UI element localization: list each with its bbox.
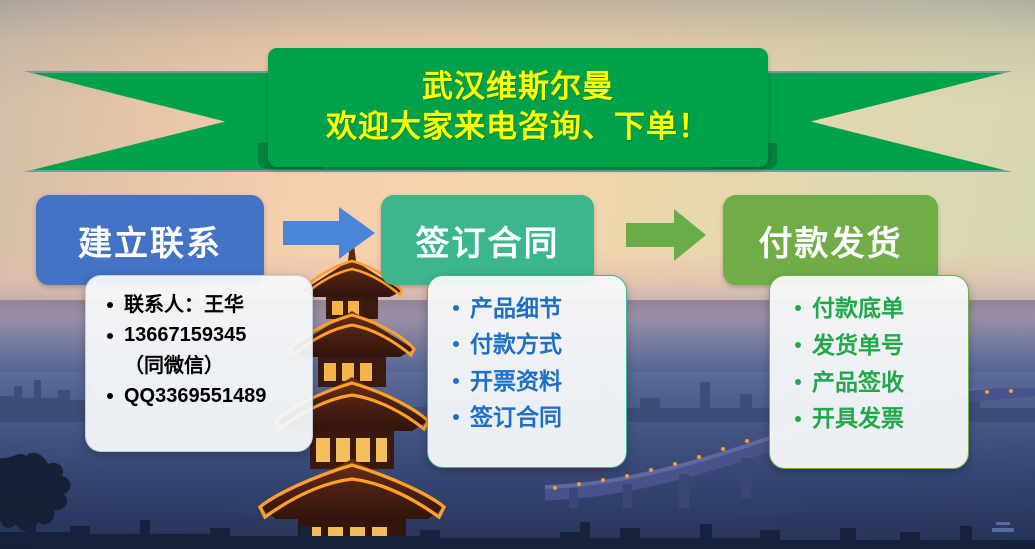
banner-title-line2: 欢迎大家来电咨询、下单！ — [326, 109, 710, 146]
step-card-header-sign-contract[interactable]: 签订合同 — [381, 195, 594, 285]
list-item: 产品细节 — [448, 290, 610, 326]
list-item: 开票资料 — [448, 363, 610, 399]
step-card-body-payment-shipping: 付款底单 发货单号 产品签收 开具发票 — [769, 275, 969, 469]
list-item: QQ3369551489 — [102, 381, 296, 411]
step-1-detail-list: 联系人：王华 13667159345 （同微信） QQ3369551489 — [102, 290, 296, 412]
list-item: 签订合同 — [448, 399, 610, 435]
list-item: 开具发票 — [790, 400, 952, 437]
step-2-detail-list: 产品细节 付款方式 开票资料 签订合同 — [444, 290, 610, 435]
step-card-body-sign-contract: 产品细节 付款方式 开票资料 签订合同 — [427, 275, 627, 468]
step-card-header-payment-shipping[interactable]: 付款发货 — [723, 195, 938, 285]
near-shore-skyline — [0, 480, 1035, 549]
list-item: 13667159345 — [102, 320, 296, 350]
list-item: 产品签收 — [790, 364, 952, 401]
poster-canvas: 武汉维斯尔曼 欢迎大家来电咨询、下单！ 建立联系 联系人：王华 13667159… — [0, 0, 1035, 549]
list-item: 付款底单 — [790, 290, 952, 327]
list-item: 联系人：王华 — [102, 290, 296, 320]
banner-title-box: 武汉维斯尔曼 欢迎大家来电咨询、下单！ — [268, 48, 768, 167]
list-item: （同微信） — [102, 351, 296, 381]
list-item: 付款方式 — [448, 326, 610, 362]
step-title-2: 签订合同 — [416, 216, 560, 265]
step-title-1: 建立联系 — [78, 216, 222, 265]
step-3-detail-list: 付款底单 发货单号 产品签收 开具发票 — [786, 290, 952, 437]
arrow-step2-to-step3-icon — [626, 209, 706, 261]
list-item: 发货单号 — [790, 327, 952, 364]
step-card-header-establish-contact[interactable]: 建立联系 — [36, 195, 264, 285]
step-title-3: 付款发货 — [759, 216, 903, 265]
arrow-step1-to-step2-icon — [283, 207, 375, 259]
banner-title-line1: 武汉维斯尔曼 — [422, 69, 614, 106]
step-card-body-establish-contact: 联系人：王华 13667159345 （同微信） QQ3369551489 — [85, 275, 313, 452]
